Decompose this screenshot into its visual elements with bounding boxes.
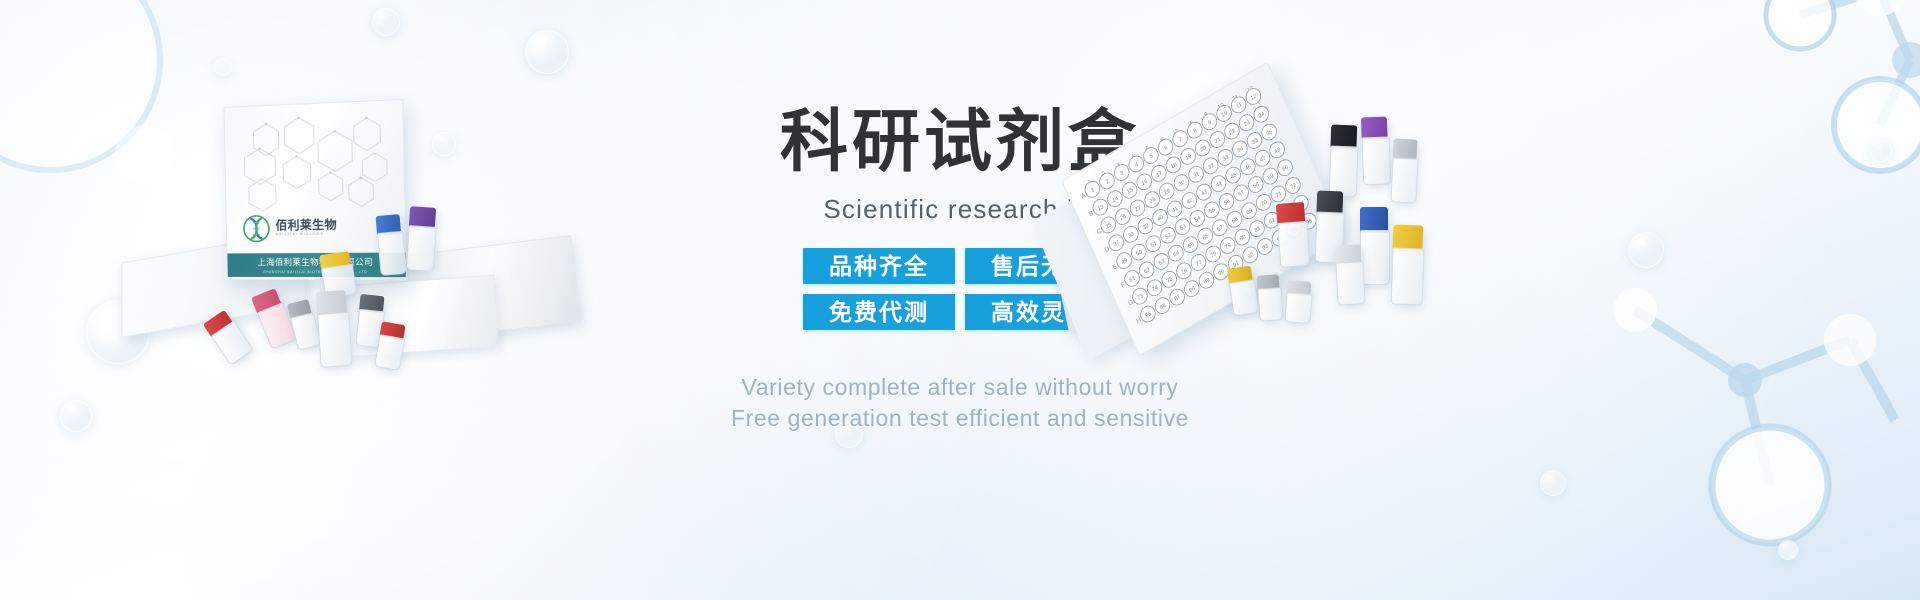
vial-blue <box>376 214 405 274</box>
vial-red-right <box>1276 202 1308 266</box>
molecule-decoration-right <box>1595 270 1920 600</box>
vial-gray-bottom <box>1256 274 1281 319</box>
vial-violet <box>1361 117 1389 184</box>
vial-purple <box>406 206 436 270</box>
vial-clear-bottom <box>1285 280 1312 322</box>
bubble-decoration <box>1778 540 1798 560</box>
molecule-decoration-top-right <box>1760 0 1920 190</box>
vial-red <box>203 310 251 364</box>
bubble-decoration <box>1628 232 1664 268</box>
hero-banner: 佰利莱生物 BAILILAI BIOLOGY 上海佰利莱生物科技有限公司 SHA… <box>0 0 1920 600</box>
product-photo-right: 123456789101112A123456789101112B13141516… <box>1030 95 1510 385</box>
badge-free-test[interactable]: 免费代测 <box>803 294 955 330</box>
bubble-decoration <box>1540 470 1566 496</box>
bubble-decoration <box>1870 140 1892 162</box>
brand-name-en: BAILILAI BIOLOGY <box>276 233 338 237</box>
bubble-decoration <box>60 400 92 432</box>
bubble-decoration <box>372 8 400 36</box>
brand-name-cn: 佰利莱生物 <box>275 219 337 232</box>
company-name-cn: 上海佰利莱生物科技有限公司 <box>257 256 373 268</box>
bubble-decoration <box>214 58 232 76</box>
product-photo-left: 佰利莱生物 BAILILAI BIOLOGY 上海佰利莱生物科技有限公司 SHA… <box>110 95 550 395</box>
vial-clear-tall <box>315 290 350 366</box>
dna-helix-icon <box>242 214 271 244</box>
tagline-line-2: Free generation test efficient and sensi… <box>731 403 1189 434</box>
vial-gray-tall <box>1390 138 1417 201</box>
vial-blue-right <box>1360 207 1388 283</box>
brand-logo: 佰利莱生物 BAILILAI BIOLOGY <box>242 210 391 246</box>
vial-yellow-right <box>1391 225 1424 304</box>
vial-white-right <box>1335 244 1364 303</box>
badge-variety-complete[interactable]: 品种齐全 <box>803 248 955 284</box>
vial-dark-purple <box>1329 125 1357 196</box>
